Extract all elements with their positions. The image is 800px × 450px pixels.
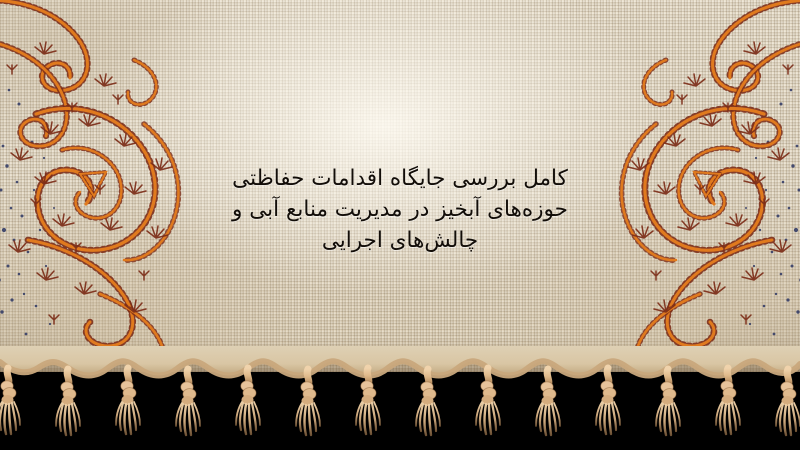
title-line-3: چالش‌های اجرایی xyxy=(185,225,615,256)
title-slide: کامل بررسی جایگاه اقدامات حفاظتی حوزه‌ها… xyxy=(0,0,800,450)
cloth-hem-shadow xyxy=(0,338,800,372)
slide-title: کامل بررسی جایگاه اقدامات حفاظتی حوزه‌ها… xyxy=(185,163,615,256)
title-line-2: حوزه‌های آبخیز در مدیریت منابع آبی و xyxy=(185,194,615,225)
title-line-1: کامل بررسی جایگاه اقدامات حفاظتی xyxy=(185,163,615,194)
